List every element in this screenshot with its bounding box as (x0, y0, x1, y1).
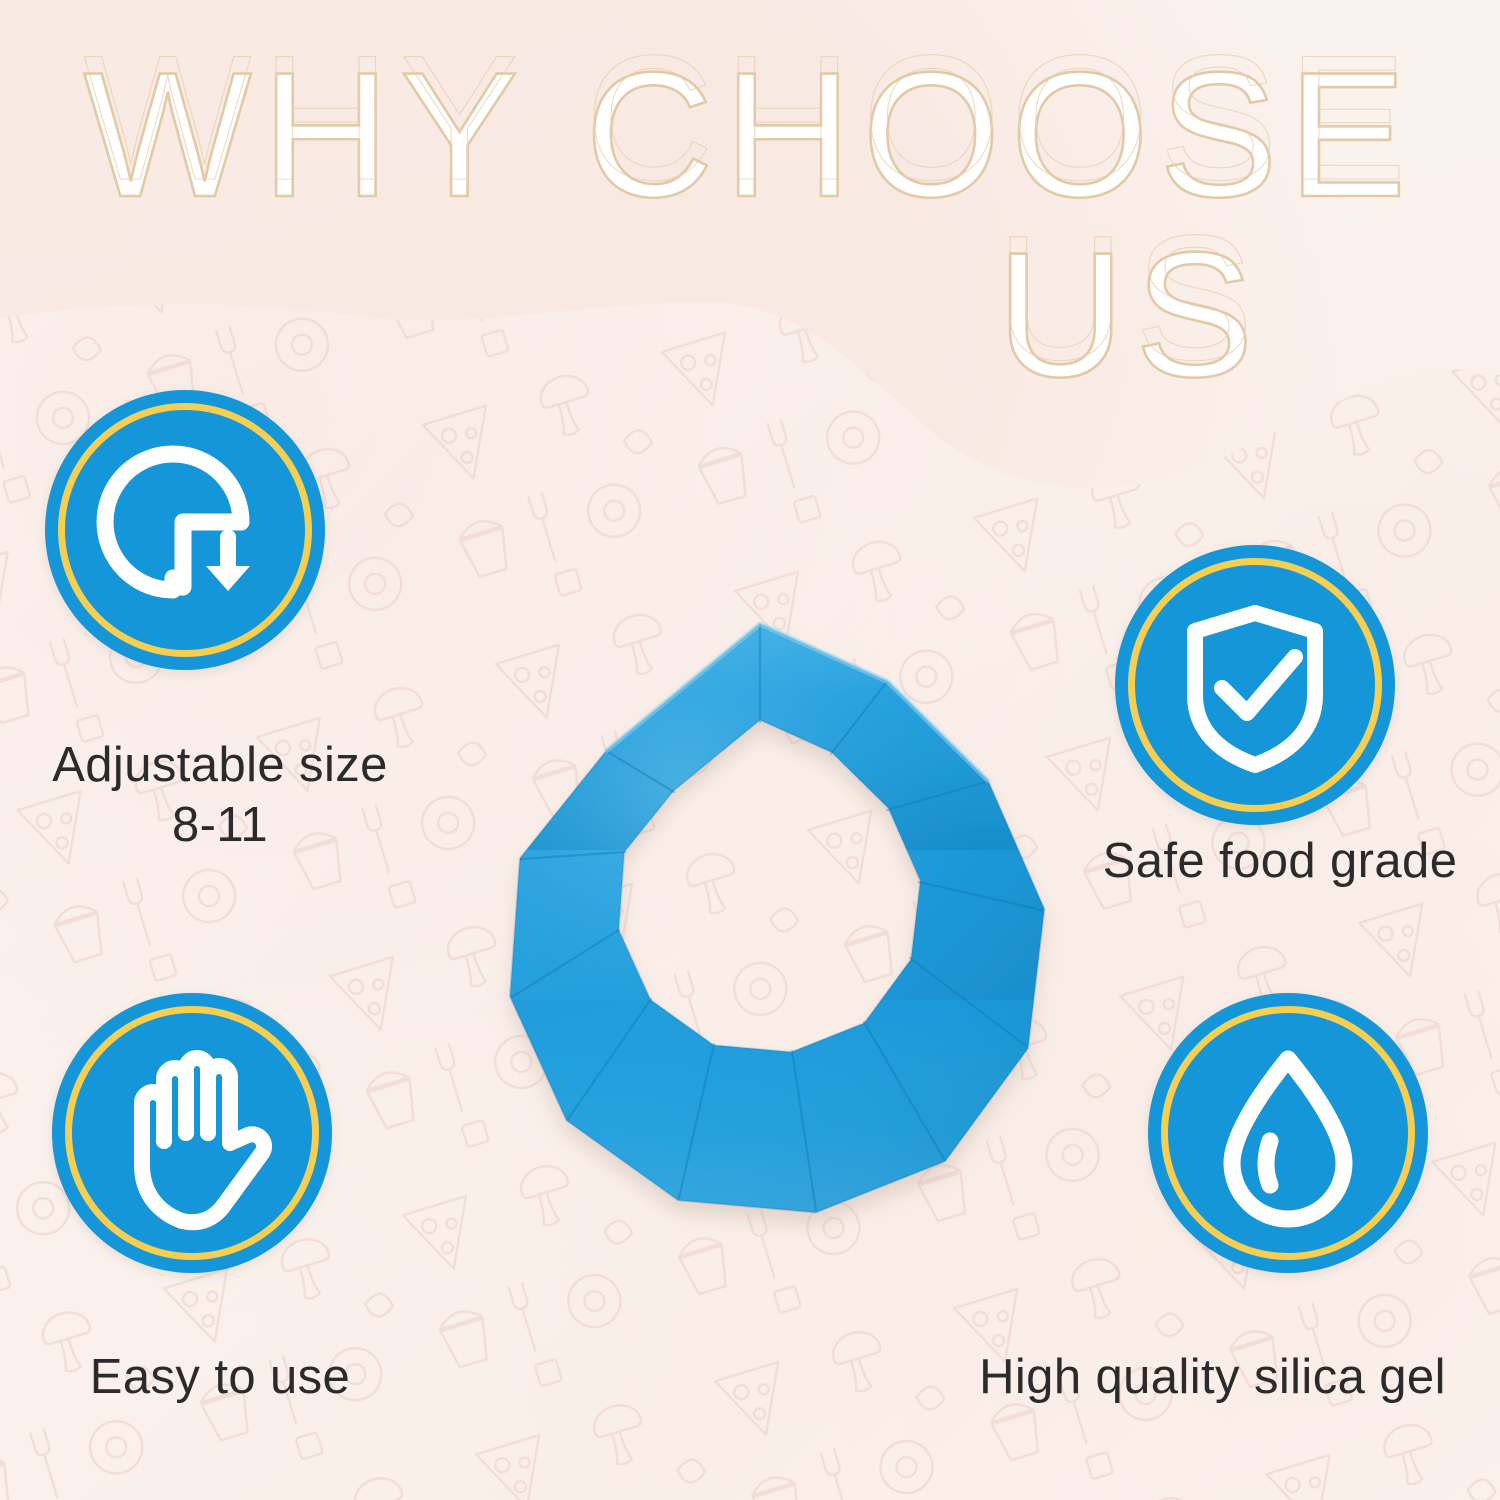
feature-badge-adjustable-size[interactable] (45, 390, 325, 670)
resize-pie-arrow-icon (45, 390, 325, 670)
product-image-silicone-pie-shield (440, 600, 1080, 1240)
feature-badge-easy-to-use[interactable] (52, 993, 332, 1273)
feature-label-safe-food-grade: Safe food grade (1060, 832, 1500, 892)
feature-badge-safe-food-grade[interactable] (1115, 545, 1395, 825)
shield-check-icon (1115, 545, 1395, 825)
feature-label-easy-to-use: Easy to use (0, 1348, 440, 1408)
feature-label-silica-gel: High quality silica gel (925, 1348, 1500, 1408)
feature-label-adjustable-size: Adjustable size 8-11 (0, 736, 440, 856)
open-hand-icon (52, 993, 332, 1273)
feature-badge-silica-gel[interactable] (1148, 993, 1428, 1273)
infographic-canvas: .tout{ font-family:"Liberation Sans", sa… (0, 0, 1500, 1500)
water-droplet-icon (1148, 993, 1428, 1273)
